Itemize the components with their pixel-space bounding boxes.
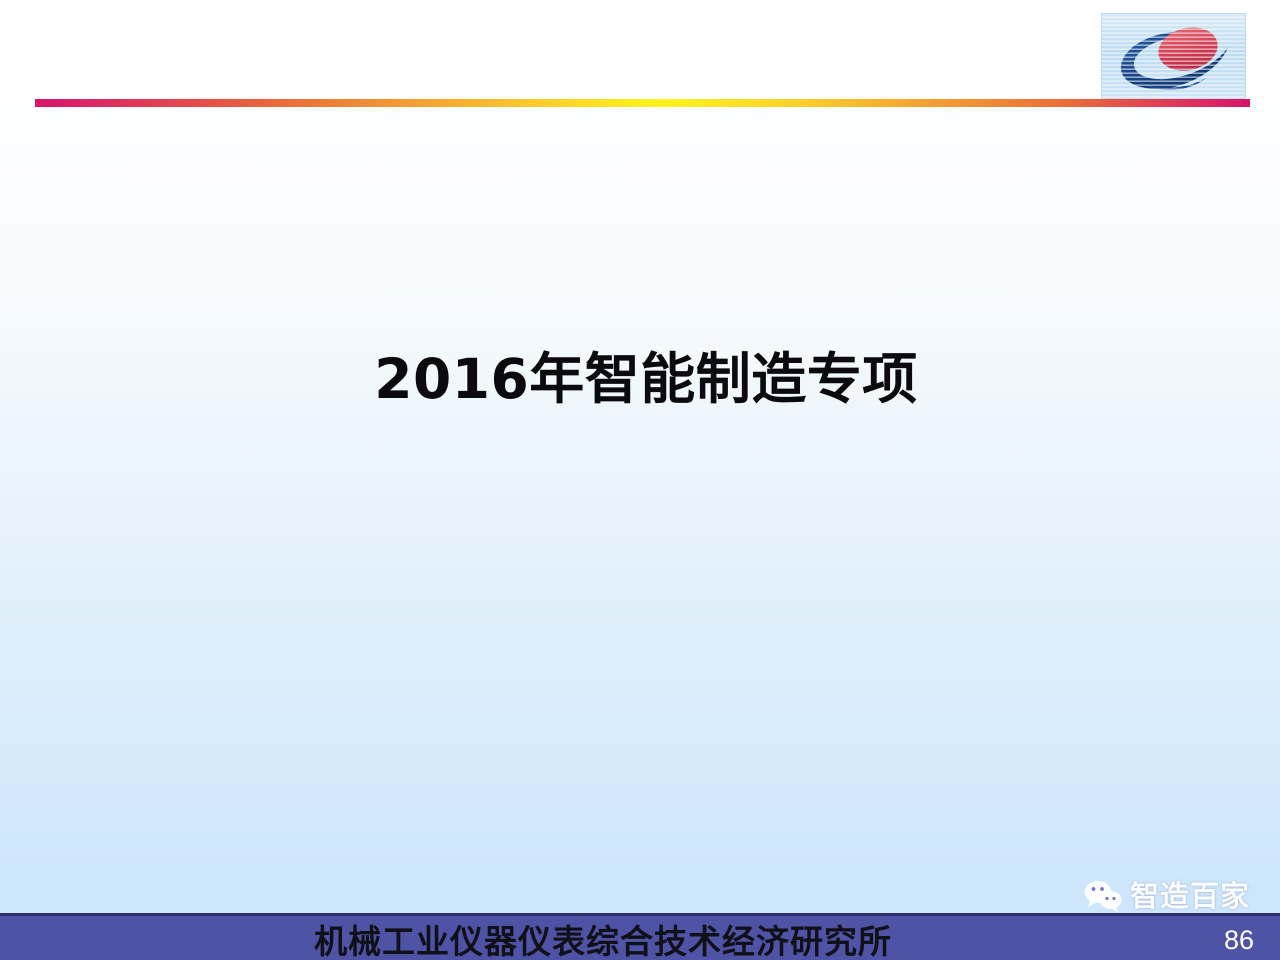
wechat-watermark: 智造百家 bbox=[1083, 879, 1250, 913]
page-number: 86 bbox=[1224, 925, 1254, 956]
header-gradient-rule bbox=[35, 99, 1250, 107]
slide-title-text: 2016年智能制造专项 bbox=[374, 349, 918, 410]
footer-organization: 机械工业仪器仪表综合技术经济研究所 bbox=[0, 915, 1243, 960]
institute-logo bbox=[1102, 14, 1245, 98]
wechat-watermark-label: 智造百家 bbox=[1130, 882, 1250, 911]
slide-canvas: 2016年智能制造专项 机械工业仪器仪表综合技术经济研究所 86 智造百家 bbox=[0, 0, 1280, 960]
slide-title: 2016年智能制造专项 bbox=[0, 349, 1280, 410]
header-band bbox=[0, 0, 1280, 99]
wechat-icon bbox=[1083, 879, 1123, 913]
